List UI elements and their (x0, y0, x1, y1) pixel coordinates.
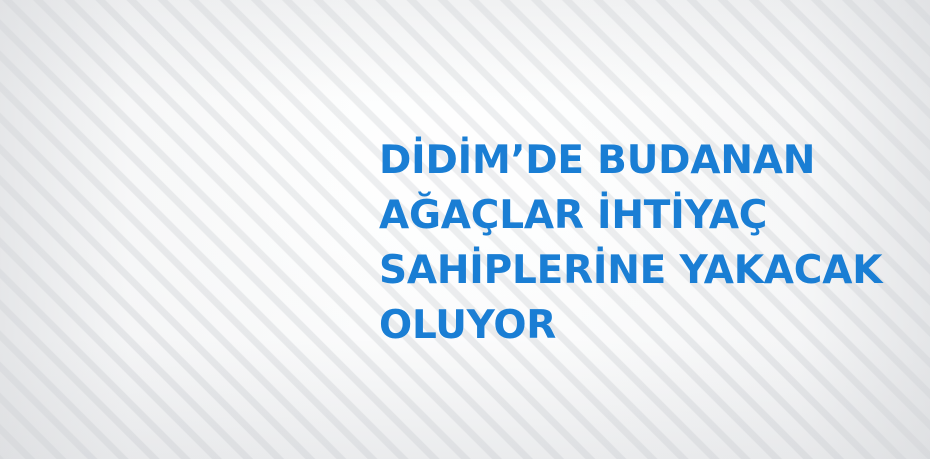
headline-line-1: DİDİM’DE BUDANAN (379, 133, 899, 188)
headline-line-2: AĞAÇLAR İHTİYAÇ (379, 188, 899, 243)
headline-line-3: SAHİPLERİNE YAKACAK (379, 243, 899, 298)
headline-line-4: OLUYOR (379, 298, 899, 353)
news-headline-banner: DİDİM’DE BUDANAN AĞAÇLAR İHTİYAÇ SAHİPLE… (0, 0, 930, 459)
headline-text: DİDİM’DE BUDANAN AĞAÇLAR İHTİYAÇ SAHİPLE… (379, 133, 899, 353)
